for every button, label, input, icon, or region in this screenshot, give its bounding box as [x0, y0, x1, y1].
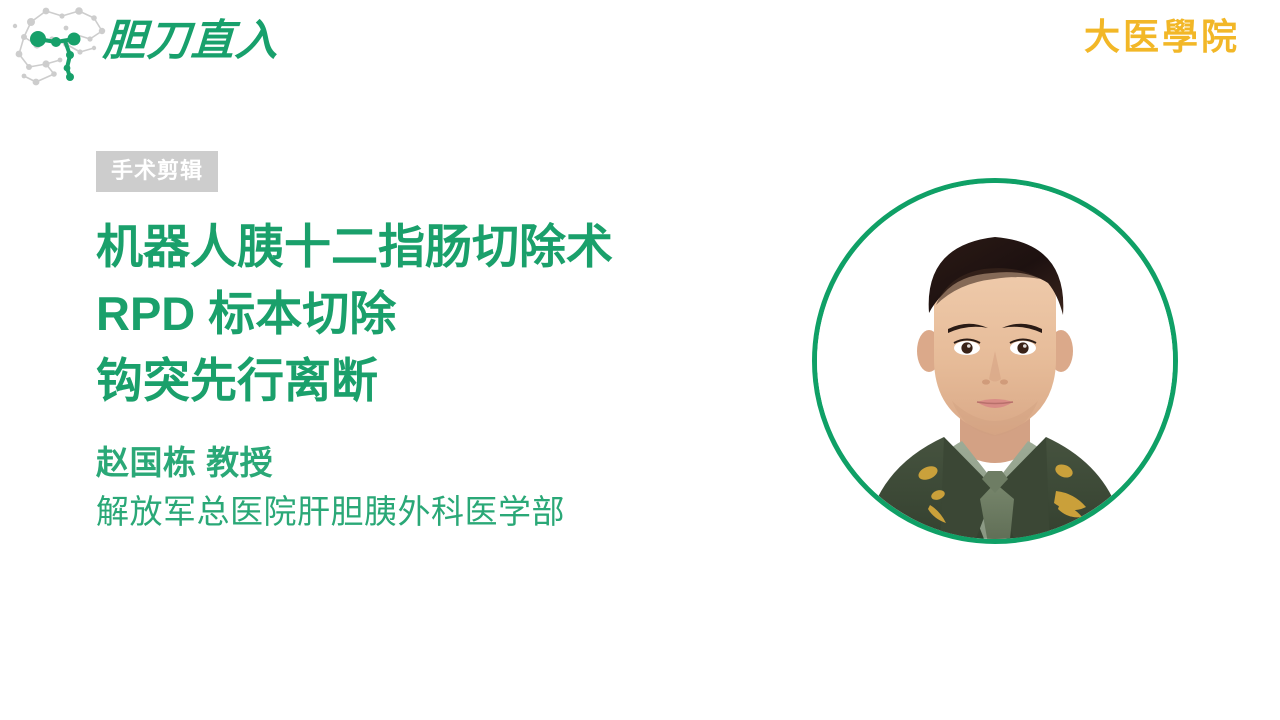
category-badge: 手术剪辑	[96, 151, 218, 192]
brand-logo-text: 胆刀直入	[102, 20, 280, 63]
presenter-block: 赵国栋 教授 解放军总医院肝胆胰外科医学部	[96, 440, 796, 538]
title-card-slide: 胆刀直入 大医學院 手术剪辑 机器人胰十二指肠切除术 RPD 标本切除 钩突先行…	[0, 0, 1280, 720]
avatar	[812, 178, 1178, 544]
content-column: 手术剪辑 机器人胰十二指肠切除术 RPD 标本切除 钩突先行离断 赵国栋 教授 …	[96, 151, 796, 538]
title-line-1: 机器人胰十二指肠切除术	[96, 213, 796, 280]
brand-logo: 胆刀直入	[103, 14, 279, 68]
title-line-2: RPD 标本切除	[96, 280, 796, 347]
network-nodes-icon	[2, 0, 110, 102]
presenter-name: 赵国栋 教授	[96, 440, 796, 486]
page-title: 机器人胰十二指肠切除术 RPD 标本切除 钩突先行离断	[96, 213, 796, 414]
academy-mark: 大医學院	[1084, 19, 1240, 55]
title-line-3: 钩突先行离断	[96, 347, 796, 414]
presenter-affiliation: 解放军总医院肝胆胰外科医学部	[96, 486, 796, 538]
portrait-image	[812, 183, 1178, 544]
